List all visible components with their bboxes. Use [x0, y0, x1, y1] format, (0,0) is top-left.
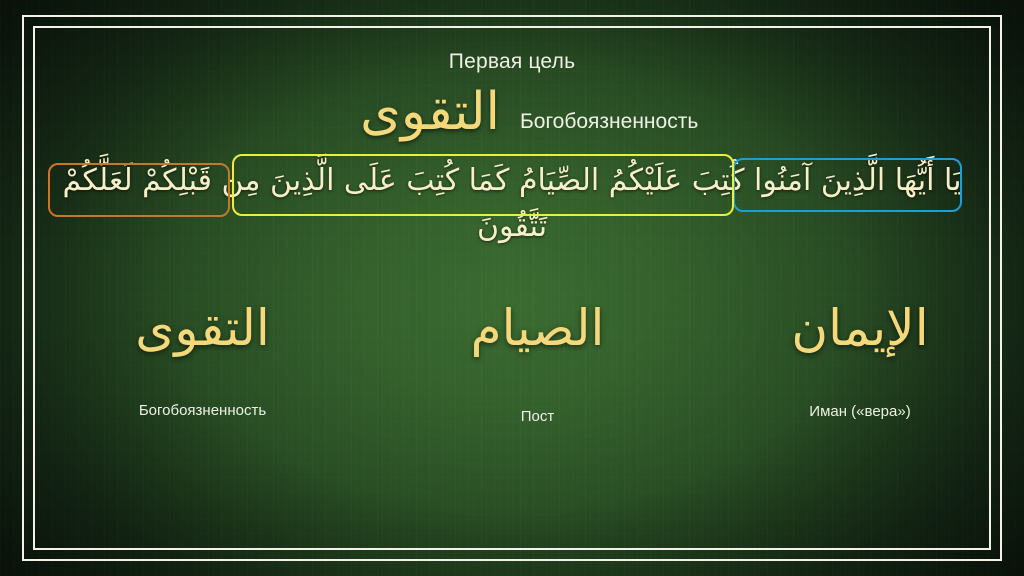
caption-siyam: Пост — [430, 408, 645, 425]
caption-iman: Иман («вера») — [760, 403, 960, 420]
equation-term-siyam: الصيام — [430, 282, 645, 374]
caption-taqwa: Богобоязненность — [95, 402, 310, 419]
page-title-russian: Богобоязненность — [520, 110, 698, 134]
equation-term-taqwa: التقوى — [95, 282, 310, 374]
goal-label: Первая цель — [0, 50, 1024, 74]
slide-canvas: Первая цель التقوى Богобоязненность يَا … — [0, 0, 1024, 576]
equation-row: الإيمان الصيام التقوى — [0, 282, 1024, 374]
slide-content: Первая цель التقوى Богобоязненность يَا … — [0, 0, 1024, 576]
ayah-line-1: يَا أَيُّهَا الَّذِينَ آمَنُوا كُتِبَ عَ… — [222, 163, 962, 198]
equation-term-iman: الإيمان — [760, 282, 960, 374]
ayah-text: يَا أَيُّهَا الَّذِينَ آمَنُوا كُتِبَ عَ… — [40, 158, 984, 249]
page-title-arabic: التقوى — [300, 86, 500, 138]
